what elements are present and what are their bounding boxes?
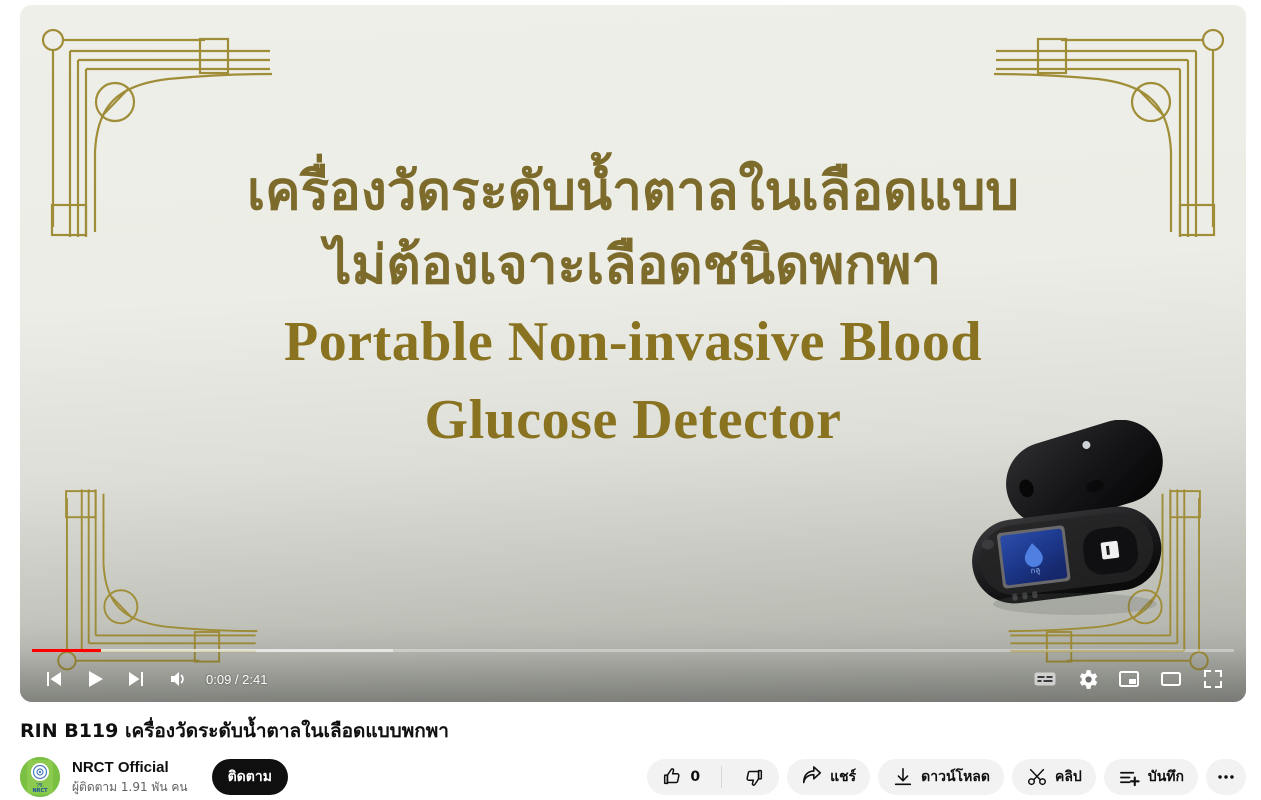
save-label: บันทึก xyxy=(1148,766,1184,788)
subtitles-icon[interactable] xyxy=(1024,658,1066,700)
fullscreen-icon[interactable] xyxy=(1192,658,1234,700)
action-buttons: 0 xyxy=(647,759,1246,795)
progress-bar[interactable] xyxy=(32,644,1234,656)
download-label: ดาวน์โหลด xyxy=(921,766,990,788)
save-to-playlist-icon xyxy=(1118,766,1141,789)
like-icon xyxy=(661,766,683,788)
like-button[interactable]: 0 xyxy=(647,759,714,795)
miniplayer-icon[interactable] xyxy=(1108,658,1150,700)
download-icon xyxy=(892,766,914,788)
play-icon[interactable] xyxy=(74,658,116,700)
clip-label: คลิป xyxy=(1055,766,1082,788)
youtube-watch-page: เครื่องวัดระดับน้ำตาลในเลือดแบบ ไม่ต้องเ… xyxy=(0,0,1261,800)
download-button[interactable]: ดาวน์โหลด xyxy=(878,759,1004,795)
progress-played xyxy=(32,649,101,652)
owner-and-actions-row: วช. NRCT NRCT Official ผู้ติดตาม 1.91 พั… xyxy=(20,757,1246,797)
share-label: แชร์ xyxy=(830,766,856,788)
share-button[interactable]: แชร์ xyxy=(787,759,870,795)
like-count: 0 xyxy=(690,769,700,785)
video-player[interactable]: เครื่องวัดระดับน้ำตาลในเลือดแบบ ไม่ต้องเ… xyxy=(20,5,1246,702)
subscribe-button[interactable]: ติดตาม xyxy=(212,759,288,795)
scissors-icon xyxy=(1026,766,1048,788)
video-meta: RIN B119 เครื่องวัดระดับน้ำตาลในเลือดแบบ… xyxy=(20,718,1246,797)
glucose-detector-device-image: กลู xyxy=(965,420,1195,625)
clip-button[interactable]: คลิป xyxy=(1012,759,1096,795)
more-actions-button[interactable] xyxy=(1206,759,1246,795)
player-controls-right xyxy=(1024,658,1246,700)
ornament-top-right xyxy=(986,27,1226,257)
ornament-top-left xyxy=(40,27,280,257)
previous-icon[interactable] xyxy=(32,658,74,700)
player-controls-left: 0:09 / 2:41 xyxy=(20,658,277,700)
channel-text: NRCT Official ผู้ติดตาม 1.91 พัน คน xyxy=(72,758,188,796)
more-horizontal-icon xyxy=(1215,766,1237,788)
channel-info[interactable]: วช. NRCT NRCT Official ผู้ติดตาม 1.91 พั… xyxy=(20,757,188,797)
subscriber-count: ผู้ติดตาม 1.91 พัน คน xyxy=(72,778,188,796)
dislike-icon xyxy=(743,766,765,788)
like-dislike-group: 0 xyxy=(647,759,779,795)
player-controls: 0:09 / 2:41 xyxy=(20,656,1246,702)
settings-icon[interactable] xyxy=(1066,658,1108,700)
dislike-button[interactable] xyxy=(729,759,779,795)
volume-icon[interactable] xyxy=(158,658,200,700)
channel-name[interactable]: NRCT Official xyxy=(72,758,188,778)
next-icon[interactable] xyxy=(116,658,158,700)
share-icon xyxy=(801,766,823,788)
page-title: RIN B119 เครื่องวัดระดับน้ำตาลในเลือดแบบ… xyxy=(20,718,1246,744)
action-divider xyxy=(721,766,722,788)
ornament-bottom-left xyxy=(40,472,280,672)
time-display: 0:09 / 2:41 xyxy=(200,672,277,687)
avatar[interactable]: วช. NRCT xyxy=(20,757,60,797)
avatar-line-2: NRCT xyxy=(32,788,48,794)
save-button[interactable]: บันทึก xyxy=(1104,759,1198,795)
theater-icon[interactable] xyxy=(1150,658,1192,700)
